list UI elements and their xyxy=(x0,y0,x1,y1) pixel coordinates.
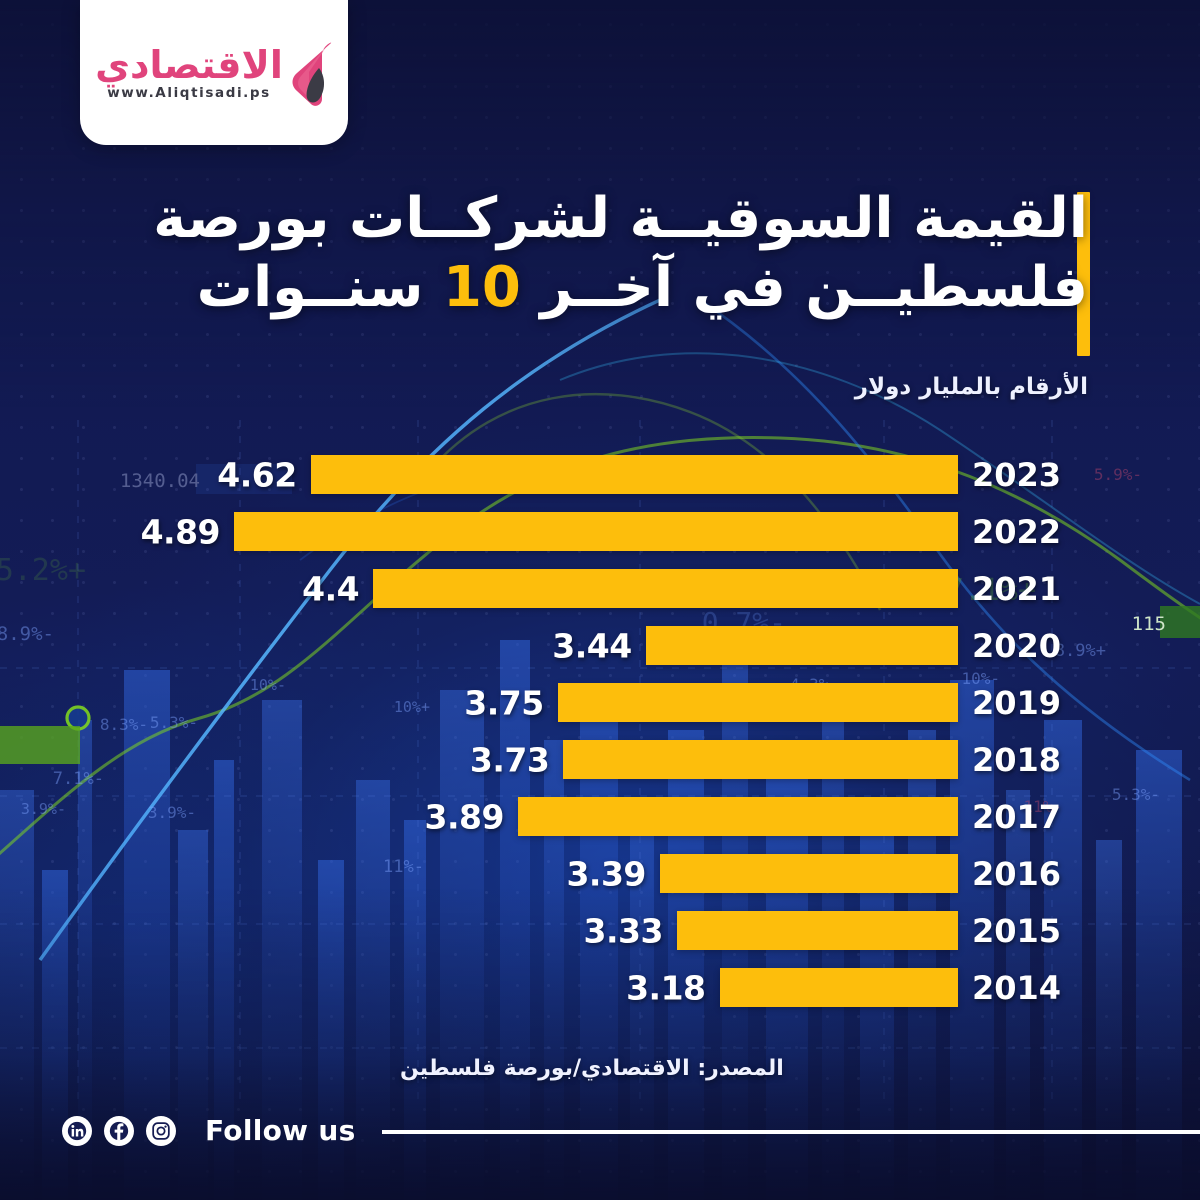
bar-2020 xyxy=(646,626,958,665)
chart-row: 3.442020 xyxy=(0,626,1200,665)
bar-year-label-2018: 2018 xyxy=(972,741,1061,779)
title-line-2-before: فلسطيــن في آخــر xyxy=(521,255,1088,320)
bar-2017 xyxy=(518,797,958,836)
bar-value-label-2015: 3.33 xyxy=(0,911,663,950)
title-line-2: فلسطيــن في آخــر 10 سنــوات xyxy=(208,253,1088,322)
bar-year-label-2021: 2021 xyxy=(972,570,1061,608)
bar-2015 xyxy=(677,911,958,950)
chart-row: 4.622023 xyxy=(0,455,1200,494)
footer-divider-line xyxy=(382,1130,1200,1134)
chart-unit-subtitle: الأرقام بالمليار دولار xyxy=(855,374,1088,400)
brand-logo-card[interactable]: الاقتصادي www.Aliqtisadi.ps xyxy=(80,0,348,145)
bar-year-label-2019: 2019 xyxy=(972,684,1061,722)
bar-year-label-2015: 2015 xyxy=(972,912,1061,950)
bar-value-label-2022: 4.89 xyxy=(0,512,220,551)
bar-value-label-2017: 3.89 xyxy=(0,797,504,836)
bar-2019 xyxy=(558,683,958,722)
bar-value-label-2018: 3.73 xyxy=(0,740,549,779)
social-links xyxy=(62,1116,176,1146)
instagram-icon[interactable] xyxy=(146,1116,176,1146)
title-line-2-after: سنــوات xyxy=(197,255,443,320)
logo-brand-text: الاقتصادي xyxy=(95,48,283,83)
bar-2016 xyxy=(660,854,958,893)
chart-row: 3.332015 xyxy=(0,911,1200,950)
bar-2018 xyxy=(563,740,958,779)
source-note: المصدر: الاقتصادي/بورصة فلسطين xyxy=(400,1056,784,1081)
linkedin-icon[interactable] xyxy=(62,1116,92,1146)
bar-2022 xyxy=(234,512,958,551)
page-title: القيمة السوقيــة لشركــات بورصة فلسطيــن… xyxy=(208,184,1088,323)
bar-year-label-2017: 2017 xyxy=(972,798,1061,836)
chart-row: 3.752019 xyxy=(0,683,1200,722)
chart-row: 3.182014 xyxy=(0,968,1200,1007)
bar-value-label-2020: 3.44 xyxy=(0,626,632,665)
bar-year-label-2016: 2016 xyxy=(972,855,1061,893)
logo-url-text: www.Aliqtisadi.ps xyxy=(107,85,271,101)
bar-value-label-2021: 4.4 xyxy=(0,569,359,608)
chart-row: 3.892017 xyxy=(0,797,1200,836)
facebook-icon[interactable] xyxy=(104,1116,134,1146)
title-line-1: القيمة السوقيــة لشركــات بورصة xyxy=(208,184,1088,253)
bar-year-label-2022: 2022 xyxy=(972,513,1061,551)
bar-year-label-2014: 2014 xyxy=(972,969,1061,1007)
bar-value-label-2019: 3.75 xyxy=(0,683,544,722)
aliqtisadi-arrow-logo-icon xyxy=(289,42,333,108)
follow-us-label: Follow us xyxy=(205,1116,356,1146)
chart-row: 3.732018 xyxy=(0,740,1200,779)
title-highlight-number: 10 xyxy=(443,255,521,320)
bar-chart: 4.6220234.8920224.420213.4420203.7520193… xyxy=(0,455,1200,1055)
bar-value-label-2023: 4.62 xyxy=(0,455,297,494)
bar-2014 xyxy=(720,968,958,1007)
bar-value-label-2014: 3.18 xyxy=(0,968,706,1007)
bar-year-label-2020: 2020 xyxy=(972,627,1061,665)
bar-2021 xyxy=(373,569,958,608)
chart-row: 4.42021 xyxy=(0,569,1200,608)
infographic-canvas: 1020.04 115 1340.04 -8.9% -7.1% -7.1% -8… xyxy=(0,0,1200,1200)
bar-year-label-2023: 2023 xyxy=(972,456,1061,494)
bar-value-label-2016: 3.39 xyxy=(0,854,646,893)
bar-2023 xyxy=(311,455,958,494)
chart-row: 4.892022 xyxy=(0,512,1200,551)
chart-row: 3.392016 xyxy=(0,854,1200,893)
footer: Follow us xyxy=(0,1088,1200,1200)
